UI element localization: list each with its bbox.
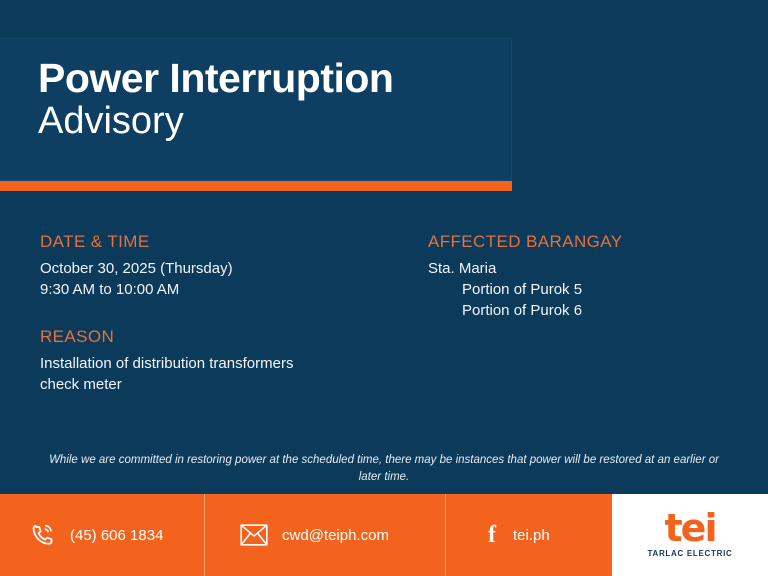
contact-facebook[interactable]: f tei.ph bbox=[445, 494, 612, 576]
affected-barangay-heading: AFFECTED BARANGAY bbox=[428, 232, 748, 252]
reason-heading: REASON bbox=[40, 327, 410, 347]
section-spacer bbox=[40, 301, 410, 327]
disclaimer-text: While we are committed in restoring powe… bbox=[44, 452, 724, 485]
date-time-line: 9:30 AM to 10:00 AM bbox=[40, 280, 410, 301]
footer-divider bbox=[445, 494, 446, 576]
contact-email[interactable]: cwd@teiph.com bbox=[204, 494, 445, 576]
facebook-handle: tei.ph bbox=[513, 527, 550, 544]
brand-logo: tei TARLAC ELECTRIC bbox=[612, 494, 768, 576]
phone-number: (45) 606 1834 bbox=[70, 527, 163, 544]
logo-wordmark: tei bbox=[665, 512, 716, 545]
contact-phone[interactable]: (45) 606 1834 bbox=[0, 494, 204, 576]
facebook-icon: f bbox=[485, 523, 499, 547]
affected-area: Portion of Purok 6 bbox=[428, 301, 748, 322]
envelope-icon bbox=[240, 523, 268, 547]
facebook-f-glyph: f bbox=[485, 523, 499, 547]
footer-divider bbox=[204, 494, 205, 576]
page-subtitle: Advisory bbox=[38, 101, 184, 143]
reason-line: check meter bbox=[40, 375, 410, 396]
logo-tagline: TARLAC ELECTRIC bbox=[647, 549, 732, 558]
affected-barangay-block: AFFECTED BARANGAY Sta. Maria Portion of … bbox=[428, 232, 748, 321]
title-panel: Power Interruption Advisory bbox=[0, 38, 512, 181]
date-time-line: October 30, 2025 (Thursday) bbox=[40, 259, 410, 280]
left-details-column: DATE & TIME October 30, 2025 (Thursday) … bbox=[40, 232, 410, 396]
orange-accent-bar bbox=[0, 181, 512, 191]
right-details-column: AFFECTED BARANGAY Sta. Maria Portion of … bbox=[428, 232, 748, 321]
affected-area: Portion of Purok 5 bbox=[428, 280, 748, 301]
email-address: cwd@teiph.com bbox=[282, 527, 389, 544]
footer-contacts: (45) 606 1834 cwd@teiph.com f tei. bbox=[0, 494, 612, 576]
advisory-poster: Power Interruption Advisory DATE & TIME … bbox=[0, 0, 768, 576]
page-title: Power Interruption bbox=[38, 57, 393, 100]
date-time-block: DATE & TIME October 30, 2025 (Thursday) … bbox=[40, 232, 410, 301]
reason-block: REASON Installation of distribution tran… bbox=[40, 327, 410, 396]
barangay-name: Sta. Maria bbox=[428, 259, 748, 280]
reason-line: Installation of distribution transformer… bbox=[40, 354, 410, 375]
phone-icon bbox=[30, 522, 56, 548]
date-time-heading: DATE & TIME bbox=[40, 232, 410, 252]
